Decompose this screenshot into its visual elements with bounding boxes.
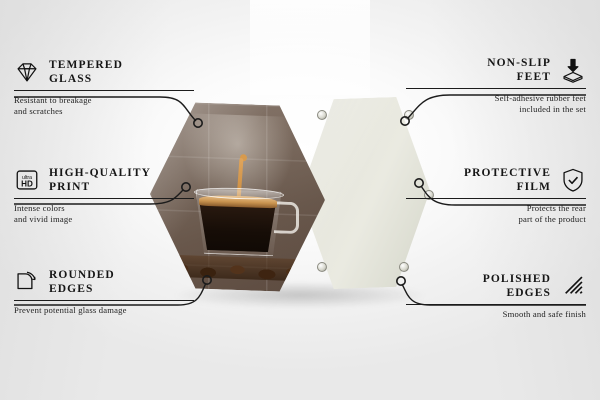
- feature-header: ROUNDED EDGES: [14, 268, 194, 296]
- non-slip-feet-icon: [560, 57, 586, 83]
- feature-description: Intense colors and vivid image: [14, 203, 194, 225]
- feature-title: PROTECTIVE FILM: [464, 166, 551, 194]
- feature-divider: [406, 304, 586, 305]
- feature-description: Protects the rear part of the product: [406, 203, 586, 225]
- feature-divider: [14, 198, 194, 199]
- feature-header: PROTECTIVE FILM: [406, 166, 586, 194]
- feature-header: ultra HD HIGH-QUALITY PRINT: [14, 166, 194, 194]
- feature-title: HIGH-QUALITY PRINT: [49, 166, 151, 194]
- feature-title: ROUNDED EDGES: [49, 268, 115, 296]
- feature-header: TEMPERED GLASS: [14, 58, 194, 86]
- rubber-foot: [399, 262, 409, 272]
- feature-title: TEMPERED GLASS: [49, 58, 123, 86]
- feature-divider: [14, 90, 194, 91]
- feature-description: Smooth and safe finish: [406, 309, 586, 320]
- diamond-icon: [14, 59, 40, 85]
- feature-non-slip-feet: NON-SLIP FEET Self-adhesive rubber feet …: [406, 56, 586, 115]
- espresso-cup-artwork: [190, 154, 286, 261]
- infographic-canvas: TEMPERED GLASS Resistant to breakage and…: [0, 0, 600, 400]
- ultra-hd-icon: ultra HD: [14, 167, 40, 193]
- feature-tempered-glass: TEMPERED GLASS Resistant to breakage and…: [14, 58, 194, 117]
- feature-header: NON-SLIP FEET: [406, 56, 586, 84]
- feature-description: Self-adhesive rubber feet included in th…: [406, 93, 586, 115]
- feature-divider: [14, 300, 194, 301]
- feature-high-quality-print: ultra HD HIGH-QUALITY PRINT Intense colo…: [14, 166, 194, 225]
- feature-title: POLISHED EDGES: [483, 272, 551, 300]
- rubber-foot: [317, 262, 327, 272]
- feature-description: Resistant to breakage and scratches: [14, 95, 194, 117]
- feature-rounded-edges: ROUNDED EDGES Prevent potential glass da…: [14, 268, 194, 316]
- feature-description: Prevent potential glass damage: [14, 305, 194, 316]
- coffee-liquid: [200, 203, 276, 253]
- feature-polished-edges: POLISHED EDGES Smooth and safe finish: [406, 272, 586, 320]
- feature-header: POLISHED EDGES: [406, 272, 586, 300]
- feature-divider: [406, 198, 586, 199]
- feature-divider: [406, 88, 586, 89]
- rounded-corner-icon: [14, 269, 40, 295]
- polished-edge-icon: [560, 273, 586, 299]
- rubber-foot: [317, 110, 327, 120]
- shield-check-icon: [560, 167, 586, 193]
- feature-protective-film: PROTECTIVE FILM Protects the rear part o…: [406, 166, 586, 225]
- feature-title: NON-SLIP FEET: [487, 56, 551, 84]
- ultra-hd-bottom-text: HD: [21, 180, 33, 189]
